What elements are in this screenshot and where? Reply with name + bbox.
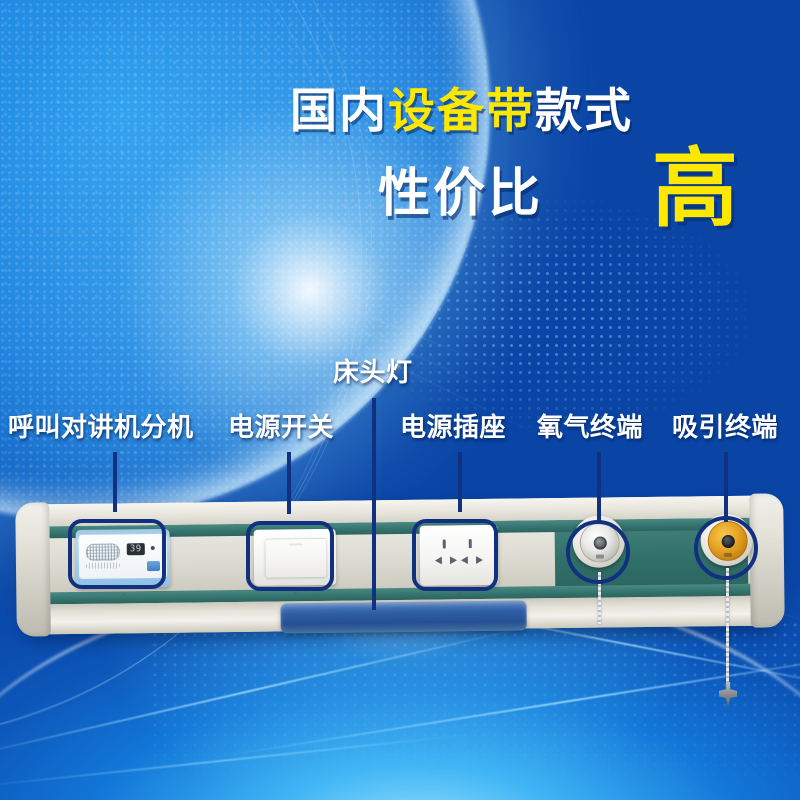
callout-label-intercom: 呼叫对讲机分机: [8, 415, 194, 441]
leader-line-suction-outlet: [724, 452, 728, 522]
leader-line-oxygen-outlet: [597, 452, 601, 524]
headline-line-1-part-1: 国内: [290, 84, 388, 139]
callout-label-oxygen-outlet: 氧气终端: [537, 415, 643, 441]
highlight-ring-oxygen-outlet: [566, 520, 630, 584]
panel-end-cap-left: [15, 502, 51, 636]
headline-line-2: 性价比: [378, 168, 543, 220]
highlight-ring-power-socket: [412, 519, 498, 591]
headline-line-1-part-3: 款式: [535, 84, 633, 139]
highlight-ring-suction-outlet: [694, 516, 758, 580]
headline-line-1: 国内设备带款式: [290, 88, 633, 135]
leader-line-bedside-lamp: [372, 398, 376, 610]
panel-screw: [294, 591, 297, 594]
callout-label-power-socket: 电源插座: [400, 415, 506, 441]
callout-label-bedside-lamp: 床头灯: [333, 360, 413, 386]
callout-label-suction-outlet: 吸引终端: [672, 415, 778, 441]
headline-line-1-part-2: 设备带: [388, 84, 535, 139]
product-poster: 国内设备带款式 性价比 高 呼叫对讲机分机 电源开关 床头灯 电源插座 氧气终端…: [0, 0, 800, 800]
highlight-ring-intercom: [68, 519, 166, 589]
leader-line-power-switch: [287, 452, 291, 514]
callout-label-power-switch: 电源开关: [228, 415, 334, 441]
headline-emphasis: 高: [652, 146, 738, 232]
suction-outlet-cord: [726, 568, 729, 688]
leader-line-intercom: [113, 452, 117, 512]
panel-screw: [458, 591, 461, 594]
highlight-ring-power-switch: [246, 521, 334, 591]
leader-line-power-socket: [458, 452, 462, 512]
panel-screw: [122, 593, 125, 596]
bedside-lamp-diffuser[interactable]: [280, 600, 526, 633]
